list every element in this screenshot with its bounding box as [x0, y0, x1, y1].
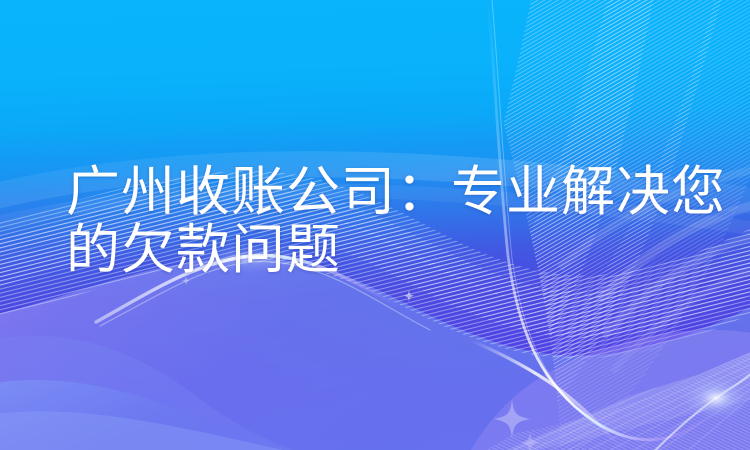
wave-band-lower-3: [0, 336, 330, 450]
lower-violet-mass: [470, 330, 750, 450]
fan-ray-group: [470, 340, 750, 450]
wave-band-lower: [0, 380, 268, 450]
sparkle-star: [181, 276, 540, 450]
ribbon-glow: [682, 376, 750, 420]
promo-banner: 广州收账公司：专业解决您 的欠款问题: [0, 0, 750, 450]
wave-band-lower-2: [0, 411, 330, 450]
wave-band-upper: [0, 258, 750, 450]
headline-line-1: 广州收账公司：专业解决您: [66, 163, 706, 221]
headline-line-2: 的欠款问题: [66, 221, 706, 279]
headline-block: 广州收账公司：专业解决您 的欠款问题: [66, 163, 706, 279]
